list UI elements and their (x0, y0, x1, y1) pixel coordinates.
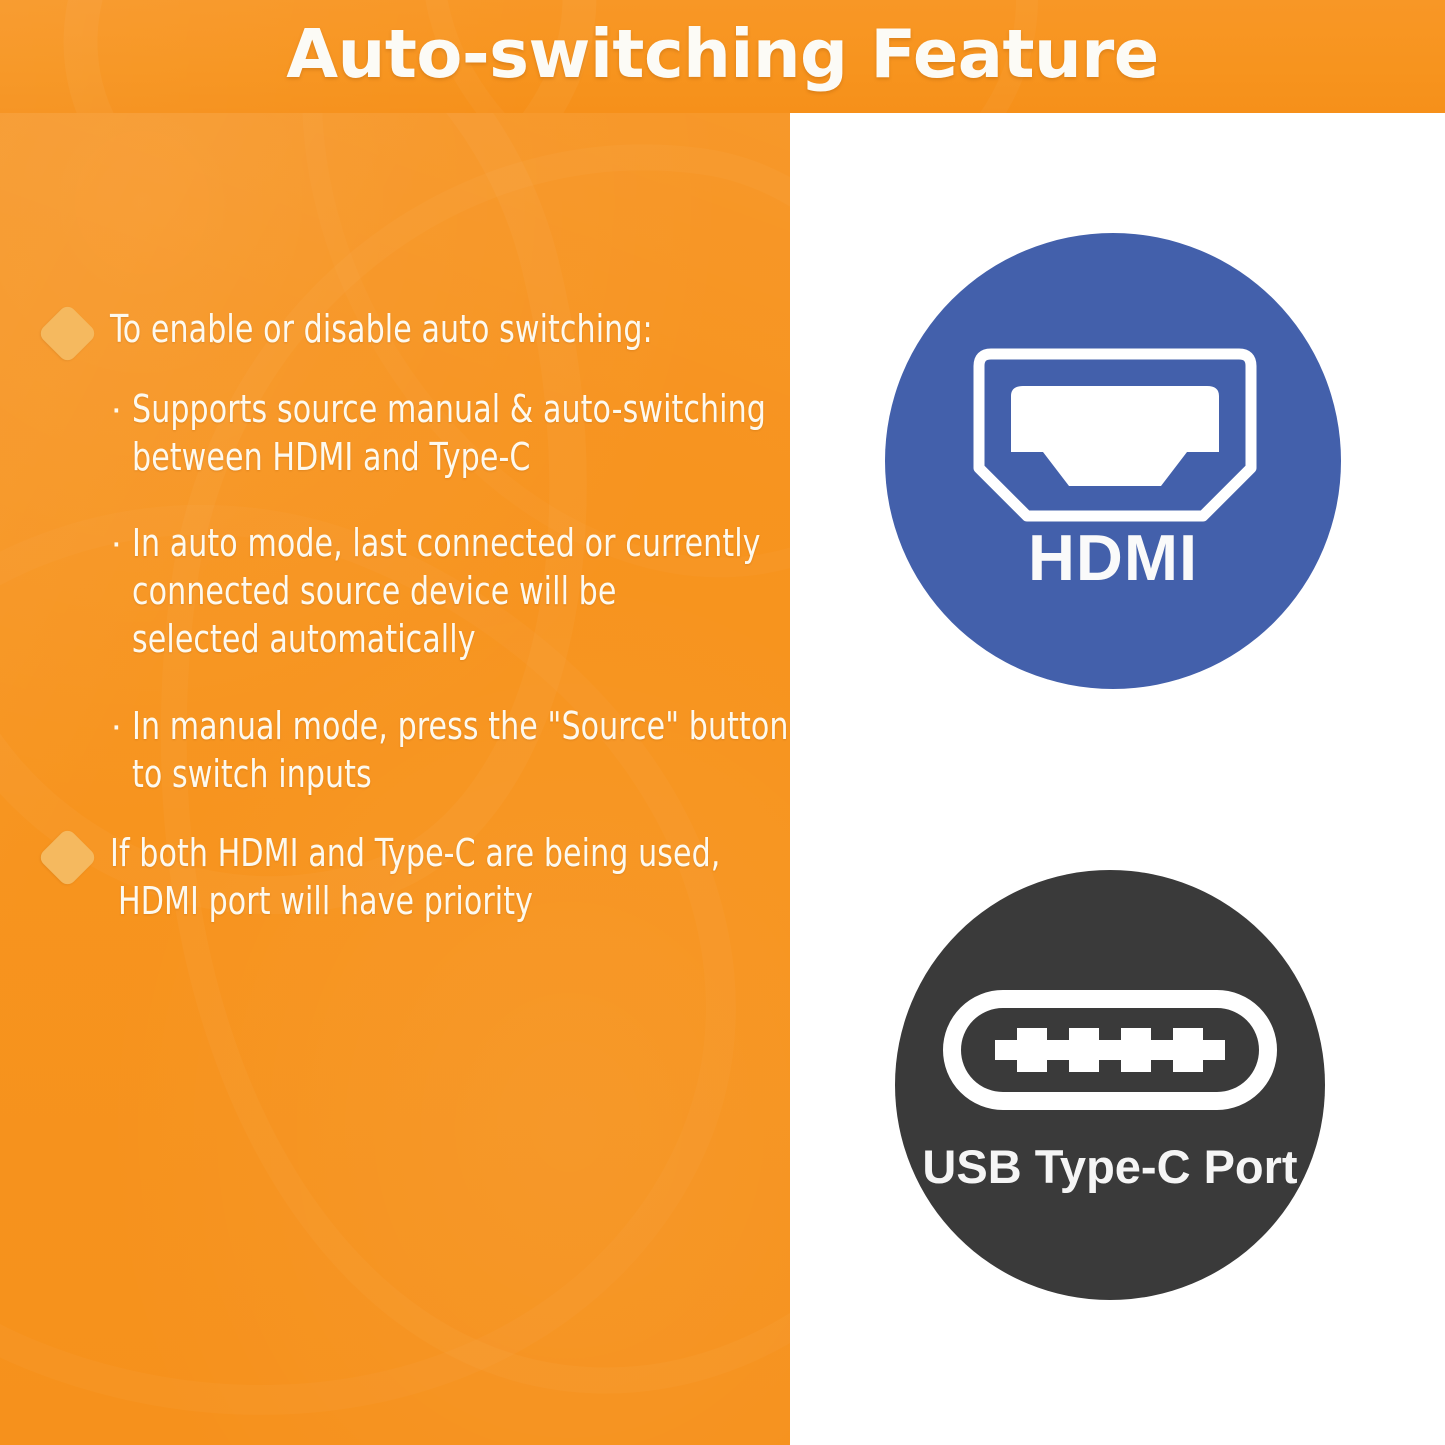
bullet-line: In manual mode, press the "Source" butto… (132, 700, 836, 752)
feature-bullet-list: To enable or disable auto switching: · S… (0, 113, 790, 1445)
bullet-line: In auto mode, last connected or currentl… (132, 517, 827, 569)
hdmi-port-icon (965, 348, 1265, 528)
hdmi-badge-label: HDMI (885, 525, 1341, 590)
dot-bullet-icon: · (110, 700, 123, 752)
dot-bullet-icon: · (110, 383, 123, 435)
infographic-canvas: To enable or disable auto switching: · S… (0, 0, 1445, 1445)
bullet-line: If both HDMI and Type-C are being used, (110, 827, 805, 879)
bullet-line: To enable or disable auto switching: (110, 303, 779, 355)
diamond-bullet-icon (37, 303, 98, 364)
page-title: Auto-switching Feature (0, 0, 1445, 113)
diamond-bullet-icon (37, 827, 98, 888)
bullet-line: HDMI port will have priority (118, 875, 813, 927)
bullet-line: Supports source manual & auto-switching (132, 383, 827, 435)
dot-bullet-icon: · (110, 517, 123, 569)
bullet-line: between HDMI and Type-C (132, 431, 827, 483)
hdmi-badge: HDMI (885, 233, 1341, 689)
bullet-line: selected automatically (132, 613, 827, 665)
usb-type-c-port-icon (943, 990, 1277, 1110)
bullet-line: to switch inputs (132, 748, 836, 800)
bullet-line: connected source device will be (132, 565, 827, 617)
usb-type-c-badge: USB Type-C Port (895, 870, 1325, 1300)
usb-type-c-badge-label: USB Type-C Port (895, 1143, 1325, 1190)
